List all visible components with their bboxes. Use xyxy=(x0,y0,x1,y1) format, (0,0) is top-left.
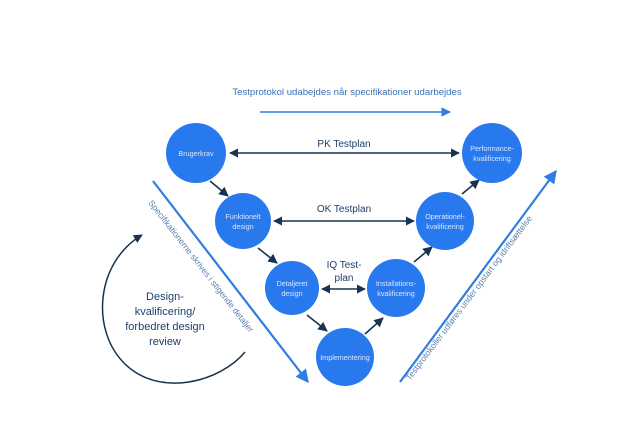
node-label-line1: Brugerkrav xyxy=(178,149,214,158)
iq-testplan-label-line1: IQ Test- xyxy=(327,260,362,271)
connector-implementering-installations xyxy=(365,318,383,334)
node-operationel-kvalificering[interactable]: Operationel- kvalificering xyxy=(416,192,474,250)
pk-testplan-label: PK Testplan xyxy=(317,139,370,150)
node-label-line2: kvalificering xyxy=(473,154,511,163)
node-label-line1: Installations- xyxy=(376,279,417,288)
vmodel-diagram: Brugerkrav Funktionelt design Detaljeret… xyxy=(0,0,623,440)
design-qualification-label-line4: review xyxy=(149,336,181,348)
node-label-line1: Performance- xyxy=(470,144,514,153)
node-funktionelt-design[interactable]: Funktionelt design xyxy=(215,193,271,249)
design-qualification-label-line2: kvalificering/ xyxy=(135,306,196,318)
node-label-line2: design xyxy=(281,289,302,298)
iq-testplan-label-line2: plan xyxy=(335,273,354,284)
top-header-label: Testprotokol udabejdes når specifikation… xyxy=(232,87,462,98)
node-label-line1: Detaljeret xyxy=(277,279,308,288)
connector-operationel-performance xyxy=(462,180,479,194)
connector-brugerkrav-funktionelt xyxy=(210,181,228,196)
node-label-line1: Operationel- xyxy=(425,212,465,221)
node-performance-kvalificering[interactable]: Performance- kvalificering xyxy=(462,123,522,183)
node-label-line1: Funktionelt xyxy=(225,212,260,221)
node-label-line2: kvalificering xyxy=(377,289,415,298)
node-label-line1: Implementering xyxy=(320,353,370,362)
vmodel-canvas: Brugerkrav Funktionelt design Detaljeret… xyxy=(0,0,623,440)
node-brugerkrav[interactable]: Brugerkrav xyxy=(166,123,226,183)
connector-installations-operationel xyxy=(414,247,432,262)
node-label-line2: kvalificering xyxy=(426,222,464,231)
ok-testplan-label: OK Testplan xyxy=(317,204,371,215)
design-qualification-label-line1: Design- xyxy=(146,291,184,303)
node-detaljeret-design[interactable]: Detaljeret design xyxy=(265,261,319,315)
node-installations-kvalificering[interactable]: Installations- kvalificering xyxy=(367,259,425,317)
node-label-line2: design xyxy=(232,222,253,231)
node-implementering[interactable]: Implementering xyxy=(316,328,374,386)
connector-detaljeret-implementering xyxy=(307,315,327,331)
connector-funktionelt-detaljeret xyxy=(258,248,277,263)
design-qualification-label-line3: forbedret design xyxy=(125,321,205,333)
